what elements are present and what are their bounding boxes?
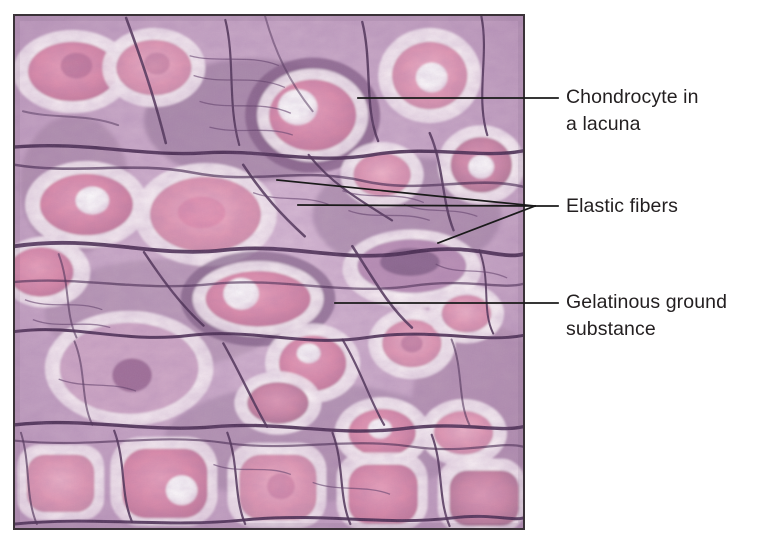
label-gelatinous-ground-substance: Gelatinous ground substance [566, 289, 727, 343]
elastic-cartilage-figure: Chondrocyte in a lacuna Elastic fibers G… [0, 0, 773, 550]
micrograph-image [15, 16, 523, 528]
label-elastic-fibers: Elastic fibers [566, 193, 678, 220]
label-chondrocyte-in-a-lacuna: Chondrocyte in a lacuna [566, 84, 699, 138]
micrograph-frame [13, 14, 525, 530]
